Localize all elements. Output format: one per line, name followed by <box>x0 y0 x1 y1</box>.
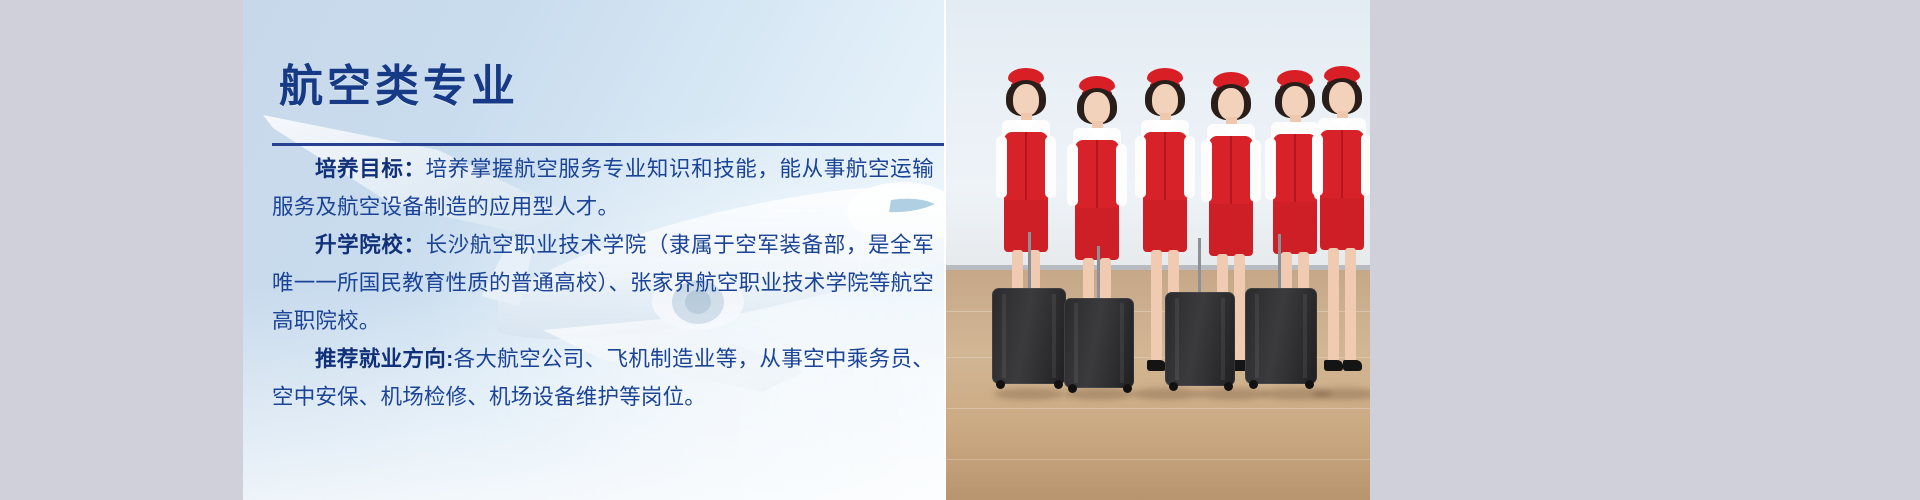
paragraph-label-training-goal: 培养目标： <box>315 157 426 181</box>
body-text: 培养目标：培养掌握航空服务专业知识和技能，能从事航空运输服务及航空设备制造的应用… <box>272 150 934 416</box>
paragraph-further-study: 升学院校：长沙航空职业技术学院（隶属于空军装备部，是全军唯一一所国民教育性质的普… <box>272 226 934 340</box>
paragraph-training-goal: 培养目标：培养掌握航空服务专业知识和技能，能从事航空运输服务及航空设备制造的应用… <box>272 150 934 226</box>
left-margin <box>0 0 243 500</box>
paragraph-label-further-study: 升学院校： <box>315 233 426 257</box>
text-block: 航空类专业 培养目标：培养掌握航空服务专业知识和技能，能从事航空运输服务及航空设… <box>243 0 945 500</box>
page-title: 航空类专业 <box>279 50 519 114</box>
info-panel: 航空类专业 培养目标：培养掌握航空服务专业知识和技能，能从事航空运输服务及航空设… <box>243 0 945 500</box>
aviation-major-banner: 航空类专业 培养目标：培养掌握航空服务专业知识和技能，能从事航空运输服务及航空设… <box>0 0 1920 500</box>
paragraph-employment: 推荐就业方向:各大航空公司、飞机制造业等，从事空中乘务员、空中安保、机场检修、机… <box>272 340 934 416</box>
title-divider-rule <box>272 143 945 146</box>
right-margin <box>1370 0 1920 500</box>
paragraph-label-employment: 推荐就业方向: <box>315 347 453 371</box>
crew-photo <box>946 0 1370 500</box>
crew-group <box>946 0 1370 500</box>
